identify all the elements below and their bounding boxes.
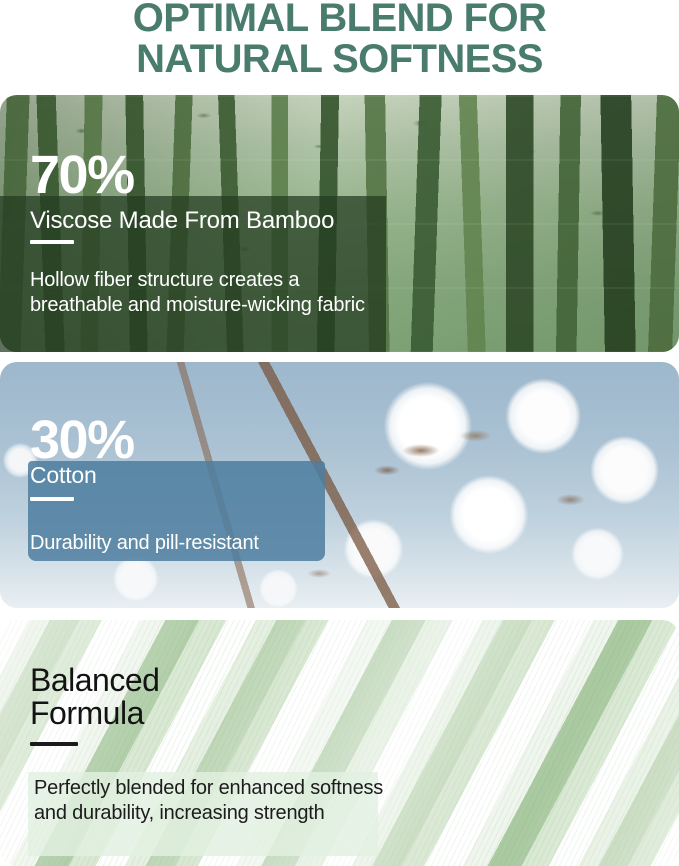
bamboo-divider [30, 240, 74, 244]
bamboo-description: Hollow fiber structure creates a breatha… [30, 268, 390, 318]
page-title-line-2: NATURAL SOFTNESS [0, 39, 679, 80]
balanced-formula-title-line-1: Balanced [30, 662, 159, 698]
page-title-line-1: OPTIMAL BLEND FOR [133, 0, 547, 40]
bamboo-percent-value: 70% [30, 148, 134, 202]
bamboo-material-label: Viscose Made From Bamboo [30, 207, 334, 234]
product-infographic: OPTIMAL BLEND FOR NATURAL SOFTNESS 70% V… [0, 0, 679, 866]
balanced-formula-description: Perfectly blended for enhanced softness … [34, 776, 384, 826]
cotton-description: Durability and pill-resistant [30, 531, 330, 556]
cotton-percent-value: 30% [30, 413, 134, 467]
page-title: OPTIMAL BLEND FOR NATURAL SOFTNESS [0, 0, 679, 80]
balanced-formula-divider [30, 742, 78, 746]
balanced-formula-title: Balanced Formula [30, 664, 159, 730]
cotton-divider [30, 497, 74, 501]
cotton-material-label: Cotton [30, 462, 97, 489]
balanced-formula-title-line-2: Formula [30, 695, 144, 731]
